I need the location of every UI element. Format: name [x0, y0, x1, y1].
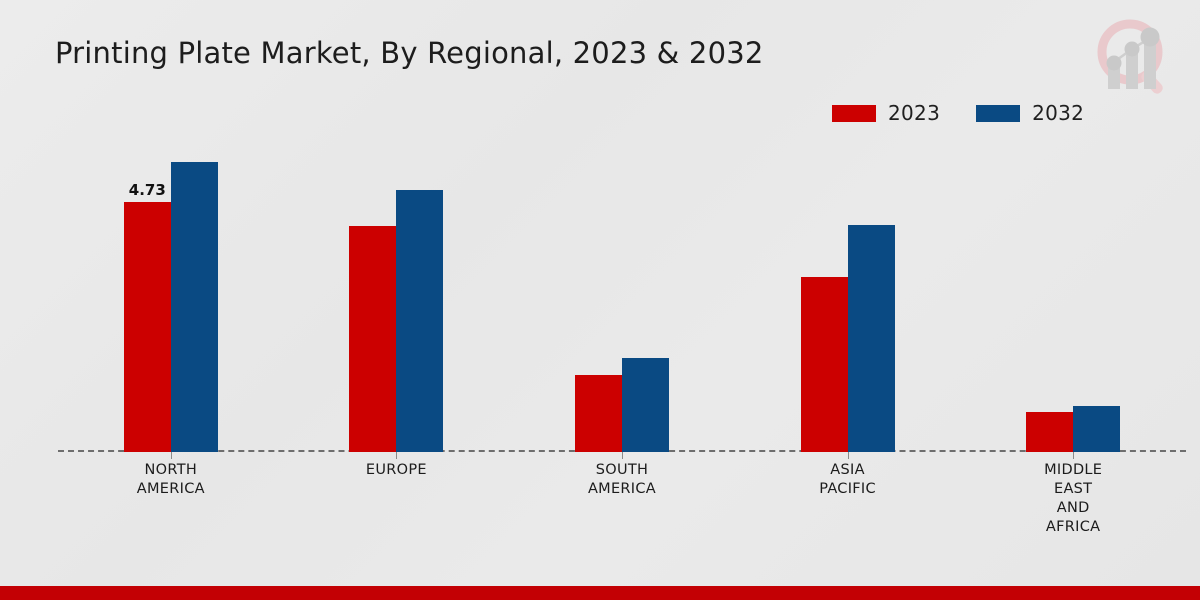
legend-swatch-2023: [832, 105, 876, 122]
market-research-future-logo: [1086, 12, 1178, 98]
bar-2032[interactable]: [171, 162, 218, 452]
bar-2032[interactable]: [848, 225, 895, 452]
bar-groups: 4.73NORTH AMERICAEUROPESOUTH AMERICAASIA…: [58, 140, 1186, 452]
bar-2032[interactable]: [1073, 406, 1120, 452]
chart-legend: 2023 2032: [832, 101, 1084, 125]
bar-2023[interactable]: 4.73: [124, 202, 171, 452]
page-title: Printing Plate Market, By Regional, 2023…: [55, 36, 764, 70]
bar-2023[interactable]: [575, 375, 622, 452]
bar-group: ASIA PACIFIC: [735, 140, 961, 452]
legend-label-2032: 2032: [1032, 101, 1084, 125]
legend-label-2023: 2023: [888, 101, 940, 125]
x-axis-tick: [848, 452, 849, 459]
x-axis-category-label: NORTH AMERICA: [137, 461, 205, 499]
bar-2023[interactable]: [801, 277, 848, 452]
plot-area: 4.73NORTH AMERICAEUROPESOUTH AMERICAASIA…: [58, 140, 1186, 452]
bar-group: EUROPE: [284, 140, 510, 452]
bar-2032[interactable]: [396, 190, 443, 452]
bar-group: 4.73NORTH AMERICA: [58, 140, 284, 452]
bar-pair: [801, 140, 895, 452]
bar-2023[interactable]: [349, 226, 396, 452]
bar-value-label: 4.73: [129, 181, 166, 199]
legend-swatch-2032: [976, 105, 1020, 122]
bar-pair: [575, 140, 669, 452]
bar-group: MIDDLE EAST AND AFRICA: [960, 140, 1186, 452]
bar-pair: 4.73: [124, 140, 218, 452]
bar-2023[interactable]: [1026, 412, 1073, 452]
x-axis-category-label: MIDDLE EAST AND AFRICA: [1044, 461, 1102, 538]
legend-item-2023[interactable]: 2023: [832, 101, 940, 125]
chart-canvas: Printing Plate Market, By Regional, 2023…: [0, 0, 1200, 600]
x-axis-tick: [396, 452, 397, 459]
x-axis-category-label: ASIA PACIFIC: [819, 461, 876, 499]
legend-item-2032[interactable]: 2032: [976, 101, 1084, 125]
bar-group: SOUTH AMERICA: [509, 140, 735, 452]
bar-2032[interactable]: [622, 358, 669, 452]
x-axis-tick: [622, 452, 623, 459]
x-axis-tick: [171, 452, 172, 459]
x-axis-tick: [1073, 452, 1074, 459]
bottom-accent-band: [0, 586, 1200, 600]
bar-pair: [349, 140, 443, 452]
x-axis-category-label: SOUTH AMERICA: [588, 461, 656, 499]
bar-pair: [1026, 140, 1120, 452]
x-axis-category-label: EUROPE: [366, 461, 427, 480]
